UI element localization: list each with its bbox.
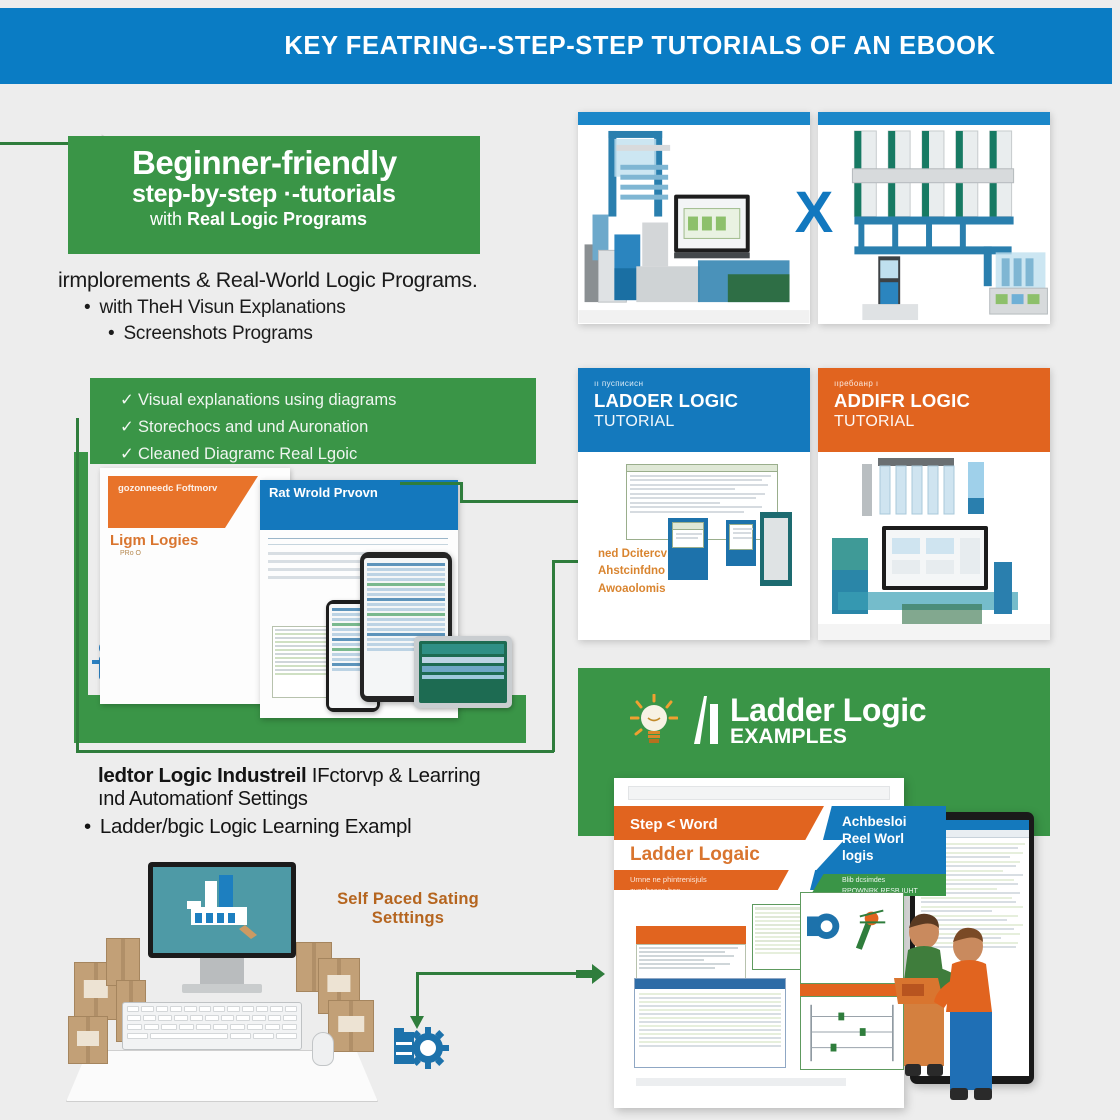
text-block-2-line-1-bold: ledtor Logic Industreil (98, 764, 306, 787)
industrial-photo-pair: X sıl/Wlavds audeomtinus (578, 112, 1050, 324)
document-diagram-panel (800, 892, 904, 984)
text-block-2-bullet: Ladder/bgic Logic Learning Exampl (84, 815, 528, 839)
left-text-block-2: ledtor Logic Industreil IFctorvp & Learr… (98, 764, 528, 839)
banner-line-2: step-by-step ·-tutorials (132, 180, 480, 209)
lightbulb-icon (630, 694, 678, 746)
self-paced-line-2: Setttings (318, 909, 498, 928)
tutorial-card-blue[interactable]: ıı пусписисн LADOER LOGIC TUTORIAL ned D… (578, 368, 810, 640)
terminal-screen (764, 518, 788, 580)
monitor (148, 862, 296, 958)
connector-vertical-left (76, 418, 79, 752)
tutorial-card-orange[interactable]: ııребоанр ı ADDIFR LOGIC TUTORIAL (818, 368, 1050, 640)
tutorial-card-blue-header: ıı пусписисн LADOER LOGIC TUTORIAL (578, 368, 810, 452)
checklist-item-1: ✓Storechocs and und Auronation (120, 414, 536, 441)
text-block-2-line-2: ınd Automationf Settings (98, 788, 528, 811)
plc-machine-illustration (578, 125, 810, 324)
book-device-collage: gozonneedc Foftmorv Ligm Logies PRo O Ra… (74, 440, 544, 750)
monitor-screen (153, 867, 291, 953)
x-separator-icon: X (787, 186, 841, 240)
gear-diagram-icon (801, 893, 903, 983)
text-block-1-heading: irmplorements & Real-World Logic Program… (58, 268, 528, 293)
beginner-friendly-banner: Beginner-friendly step-by-step ·-tutoria… (68, 136, 480, 254)
check-icon: ✓ (120, 387, 138, 414)
document-orange-row-header (800, 984, 904, 996)
book-orange-sub: PRo O (120, 550, 141, 557)
industrial-photo-right (818, 112, 1050, 324)
industrial-photo-left (578, 112, 810, 324)
tutorial-card-orange-subtitle: TUTORIAL (818, 412, 1050, 431)
connector-horizontal-upper-2 (400, 482, 462, 485)
book-orange-kicker: gozonneedc Foftmorv (108, 476, 258, 494)
banner-line-3-prefix: with (150, 209, 187, 229)
document-blue-title: Achbesloi Reel Worl logis (842, 814, 907, 865)
connector-vertical-upper (460, 482, 463, 502)
self-paced-caption: Self Paced Sating Setttings (318, 890, 498, 928)
photo-top-bar (818, 112, 1050, 125)
document-orange-title: Ladder Logaic (630, 844, 760, 866)
checklist-item-1-label: Storechocs and und Auronation (138, 418, 368, 436)
tutorial-card-blue-title: LADOER LOGIC (578, 388, 810, 412)
process-plant-illustration (818, 125, 1050, 324)
cardboard-box (328, 1000, 374, 1052)
text-block-1-bullet-1: Screenshots Programs (58, 323, 528, 345)
ladder-logic-title: Ladder Logic (730, 694, 926, 726)
tutorial-card-orange-header: ııребоанр ı ADDIFR LOGIC TUTORIAL (818, 368, 1050, 452)
connector-vertical-mid (552, 560, 555, 752)
connector-horizontal-upper (460, 500, 586, 503)
checklist-item-0: ✓Visual explanations using diagrams (120, 387, 536, 414)
document-ladder-diagram-panel (800, 996, 904, 1070)
text-block-2-line-1-rest: IFctorvp & Learring (306, 764, 480, 787)
keyboard (122, 1002, 302, 1050)
self-paced-line-1: Self Paced Sating (318, 890, 498, 909)
io-module-screen (729, 524, 753, 550)
hmi-panel-mockup (414, 636, 512, 708)
banner-line-1: Beginner-friendly (132, 146, 480, 180)
monitor-base (182, 984, 262, 993)
factory-graphic-icon (153, 867, 291, 953)
book-blue-rule (268, 538, 448, 539)
check-icon: ✓ (120, 414, 138, 441)
book-orange-title: Ligm Logies (110, 532, 198, 549)
document-orange-sub: Urnne ne phintrenisjuls zvenbcasn han (630, 874, 707, 897)
arrow-right-icon (576, 962, 606, 986)
hmi-screen (419, 641, 507, 703)
mouse (312, 1032, 334, 1066)
checklist-item-0-label: Visual explanations using diagrams (138, 391, 396, 409)
page-title: KEY FEATRING--STEP-STEP TUTORIALS OF AN … (284, 32, 995, 61)
plant-machine-illustration (818, 452, 1050, 640)
tutorial-card-blue-kicker: ıı пусписисн (578, 368, 810, 388)
cardboard-box (68, 1016, 108, 1064)
cardboard-box (106, 938, 140, 986)
document-collage: Step < Word Ladder Logaic Urnne ne phint… (614, 778, 1034, 1112)
connector-horizontal-gear (416, 972, 584, 975)
photo-top-bar (578, 112, 810, 125)
text-block-1-bullet-0: with TheH Visun Explanations (58, 297, 528, 319)
header-strip-left (0, 8, 168, 84)
document-top-rule (628, 786, 890, 800)
document-footer-rule (636, 1078, 846, 1086)
book-blue-header: Rat Wrold Prvovn (260, 480, 458, 530)
arrow-down-icon (408, 1016, 426, 1030)
monitor-stand (200, 958, 244, 984)
document-orange-kicker: Step < Word (630, 816, 718, 833)
tutorial-card-orange-kicker: ııребоанр ı (818, 368, 1050, 388)
document-spreadsheet-window (634, 978, 786, 1068)
document-orange-table-header (636, 926, 746, 944)
ladder-logic-subtitle: EXAMPLES (730, 726, 926, 748)
header-bar: KEY FEATRING--STEP-STEP TUTORIALS OF AN … (168, 8, 1112, 84)
left-text-block-1: irmplorements & Real-World Logic Program… (58, 268, 528, 345)
infographic-page: KEY FEATRING--STEP-STEP TUTORIALS OF AN … (0, 0, 1120, 1120)
ladder-diagram-icon (801, 997, 903, 1069)
tutorial-card-orange-title: ADDIFR LOGIC (818, 388, 1050, 412)
hmi-panel-screen (672, 522, 704, 548)
text-block-2-line-1: ledtor Logic Industreil IFctorvp & Learr… (98, 764, 528, 788)
banner-line-3-bold: Real Logic Programs (187, 209, 367, 229)
ladder-mark-icon (688, 694, 722, 744)
tutorial-card-blue-subtitle: TUTORIAL (578, 412, 810, 431)
banner-line-3: with Real Logic Programs (132, 208, 480, 231)
person-with-laptop (894, 906, 1002, 1106)
tutorial-card-blue-body: ned Dcitercv Ahstcinfdno Awoaolomis (598, 546, 667, 598)
book-blue-rule-2 (268, 544, 448, 545)
connector-horizontal-bottom (76, 750, 554, 753)
